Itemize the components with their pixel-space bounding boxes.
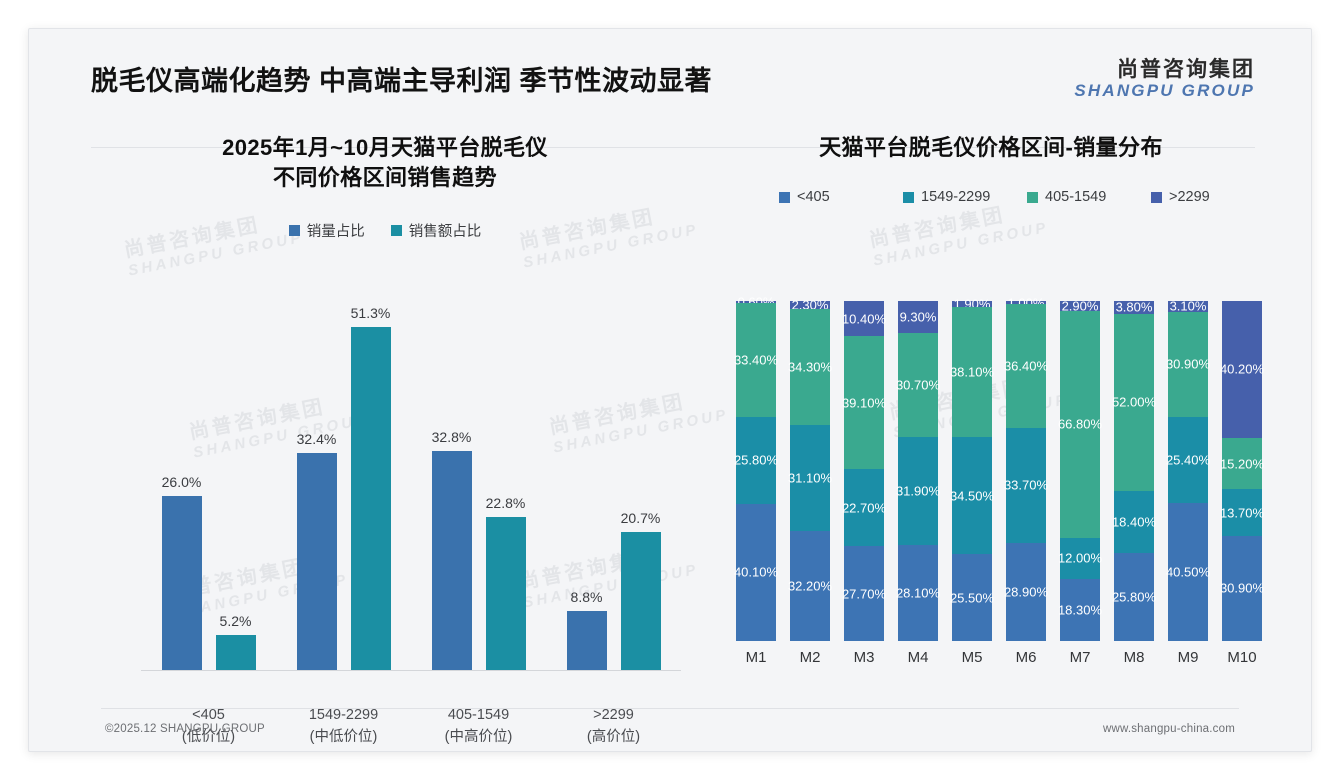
stack-segment[interactable]: 2.90% bbox=[1060, 301, 1100, 311]
x-axis-tick-labels: M1M2M3M4M5M6M7M8M9M10 bbox=[729, 649, 1269, 666]
legend-label: >2299 bbox=[1169, 189, 1210, 205]
stack-segment[interactable]: 25.40% bbox=[1168, 417, 1208, 503]
bar-column[interactable]: 32.8% bbox=[432, 451, 472, 670]
legend-label: 销量占比 bbox=[307, 220, 365, 241]
stack-segment-label: 10.40% bbox=[842, 311, 886, 326]
bar[interactable] bbox=[486, 517, 526, 670]
stack-segment[interactable]: 25.80% bbox=[1114, 553, 1154, 641]
bar-group: 26.0%5.2% bbox=[141, 303, 276, 670]
bar-value-label: 22.8% bbox=[486, 495, 526, 511]
logo-english-text: SHANGPU GROUP bbox=[1074, 82, 1255, 100]
stack-segment[interactable]: 25.80% bbox=[736, 417, 776, 505]
stacked-bar[interactable]: 1.00%36.40%33.70%28.90% bbox=[1006, 301, 1046, 641]
stack-segment[interactable]: 28.90% bbox=[1006, 543, 1046, 641]
footer-website: www.shangpu-china.com bbox=[1103, 723, 1235, 735]
x-tick-sub: (高价位) bbox=[546, 727, 681, 749]
stack-segment[interactable]: 66.80% bbox=[1060, 311, 1100, 538]
bar-group: 32.4%51.3% bbox=[276, 303, 411, 670]
bar-value-label: 5.2% bbox=[220, 613, 252, 629]
legend-label: 1549-2299 bbox=[921, 189, 990, 205]
legend-item[interactable]: <405 bbox=[779, 189, 903, 205]
legend-item[interactable]: >2299 bbox=[1151, 189, 1275, 205]
stack-segment-label: 9.30% bbox=[900, 309, 937, 324]
stack-segment-label: 12.00% bbox=[1058, 551, 1102, 566]
x-tick-label: M1 bbox=[729, 649, 783, 666]
stack-segment[interactable]: 12.00% bbox=[1060, 538, 1100, 579]
footer-copyright: ©2025.12 SHANGPU GROUP bbox=[105, 723, 265, 735]
stack-segment[interactable]: 3.10% bbox=[1168, 301, 1208, 312]
stack-segment[interactable]: 34.30% bbox=[790, 309, 830, 426]
stack-segment-label: 34.50% bbox=[950, 488, 994, 503]
logo-chinese-text: 尚普咨询集团 bbox=[1074, 59, 1255, 82]
stack-segment[interactable]: 32.20% bbox=[790, 531, 830, 640]
stack-segment-label: 28.10% bbox=[896, 586, 940, 601]
bar[interactable] bbox=[621, 532, 661, 671]
stacked-bar-column[interactable]: 2.30%34.30%31.10%32.20% bbox=[783, 301, 837, 641]
stack-segment-label: 31.90% bbox=[896, 484, 940, 499]
x-tick-label: 405-1549(中高价位) bbox=[411, 705, 546, 749]
stacked-bar[interactable]: 0.60%33.40%25.80%40.10% bbox=[736, 301, 776, 641]
bar-column[interactable]: 51.3% bbox=[351, 327, 391, 670]
stack-segment[interactable]: 3.80% bbox=[1114, 301, 1154, 314]
stack-segment[interactable]: 30.70% bbox=[898, 333, 938, 437]
stacked-bar-column[interactable]: 9.30%30.70%31.90%28.10% bbox=[891, 301, 945, 641]
slide-canvas: 脱毛仪高端化趋势 中高端主导利润 季节性波动显著 尚普咨询集团 SHANGPU … bbox=[28, 28, 1312, 752]
stack-segment-label: 39.10% bbox=[842, 395, 886, 410]
stack-segment-label: 13.70% bbox=[1220, 505, 1264, 520]
chart-title-line2: 不同价格区间销售趋势 bbox=[75, 163, 695, 193]
bar-group: 32.8%22.8% bbox=[411, 303, 546, 670]
legend-label: <405 bbox=[797, 189, 830, 205]
stack-segment-label: 25.50% bbox=[950, 590, 994, 605]
page-title: 脱毛仪高端化趋势 中高端主导利润 季节性波动显著 bbox=[91, 59, 712, 98]
stack-segment-label: 22.70% bbox=[842, 500, 886, 515]
bar-value-label: 51.3% bbox=[351, 305, 391, 321]
chart-title-sales-trend: 2025年1月~10月天猫平台脱毛仪 不同价格区间销售趋势 bbox=[75, 133, 695, 194]
stacked-bar[interactable]: 3.10%30.90%25.40%40.50% bbox=[1168, 301, 1208, 641]
stack-segment[interactable]: 31.90% bbox=[898, 437, 938, 545]
stack-segment-label: 33.40% bbox=[734, 352, 778, 367]
legend-item[interactable]: 销量占比 bbox=[289, 220, 365, 241]
stack-segment-label: 15.20% bbox=[1220, 456, 1264, 471]
stack-segment[interactable]: 39.10% bbox=[844, 336, 884, 469]
stacked-bar-column[interactable]: 1.90%38.10%34.50%25.50% bbox=[945, 301, 999, 641]
stack-segment[interactable]: 36.40% bbox=[1006, 304, 1046, 428]
x-tick-main: <405 bbox=[192, 707, 225, 723]
stack-segment-label: 25.80% bbox=[734, 453, 778, 468]
legend-swatch-icon bbox=[1027, 192, 1038, 203]
stack-segment[interactable]: 33.70% bbox=[1006, 428, 1046, 543]
stack-segment-label: 36.40% bbox=[1004, 359, 1048, 374]
bar[interactable] bbox=[216, 635, 256, 670]
stack-segment-label: 25.40% bbox=[1166, 452, 1210, 467]
footer-divider bbox=[101, 708, 1239, 709]
stack-segment[interactable]: 18.40% bbox=[1114, 491, 1154, 554]
stack-segment-label: 25.80% bbox=[1112, 590, 1156, 605]
stack-segment-label: 27.70% bbox=[842, 586, 886, 601]
plot-area-volume-distribution: 0.60%33.40%25.80%40.10%2.30%34.30%31.10%… bbox=[729, 301, 1269, 641]
stack-segment[interactable]: 40.20% bbox=[1222, 301, 1262, 438]
chart-panel-volume-distribution: 天猫平台脱毛仪价格区间-销量分布 <4051549-2299405-1549>2… bbox=[701, 133, 1281, 713]
stack-segment-label: 40.10% bbox=[734, 565, 778, 580]
stack-segment-label: 30.90% bbox=[1220, 581, 1264, 596]
legend-swatch-icon bbox=[779, 192, 790, 203]
x-tick-label: M3 bbox=[837, 649, 891, 666]
stack-segment-label: 66.80% bbox=[1058, 417, 1102, 432]
bar-value-label: 26.0% bbox=[162, 474, 202, 490]
stacked-bar[interactable]: 40.20%15.20%13.70%30.90% bbox=[1222, 301, 1262, 641]
brand-logo: 尚普咨询集团 SHANGPU GROUP bbox=[1074, 59, 1255, 100]
legend-label: 405-1549 bbox=[1045, 189, 1106, 205]
stack-segment[interactable]: 9.30% bbox=[898, 301, 938, 333]
x-tick-label: >2299(高价位) bbox=[546, 705, 681, 749]
stack-segment-label: 33.70% bbox=[1004, 478, 1048, 493]
x-tick-main: 405-1549 bbox=[448, 707, 509, 723]
stack-segment[interactable]: 34.50% bbox=[952, 437, 992, 554]
x-tick-label: M4 bbox=[891, 649, 945, 666]
bar[interactable] bbox=[432, 451, 472, 670]
stack-segment[interactable]: 30.90% bbox=[1222, 536, 1262, 641]
stack-segment[interactable]: 13.70% bbox=[1222, 489, 1262, 536]
stack-segment[interactable]: 40.50% bbox=[1168, 503, 1208, 641]
x-tick-label: M7 bbox=[1053, 649, 1107, 666]
bar[interactable] bbox=[567, 611, 607, 670]
stack-segment[interactable]: 38.10% bbox=[952, 307, 992, 437]
stack-segment[interactable]: 30.90% bbox=[1168, 312, 1208, 417]
bar-column[interactable]: 22.8% bbox=[486, 517, 526, 670]
stack-segment-label: 30.90% bbox=[1166, 357, 1210, 372]
stacked-bar-column[interactable]: 3.10%30.90%25.40%40.50% bbox=[1161, 301, 1215, 641]
stack-segment-label: 52.00% bbox=[1112, 395, 1156, 410]
stacked-bar[interactable]: 3.80%52.00%18.40%25.80% bbox=[1114, 301, 1154, 641]
stack-segment[interactable]: 25.50% bbox=[952, 554, 992, 641]
bar[interactable] bbox=[351, 327, 391, 670]
bar-value-label: 20.7% bbox=[621, 510, 661, 526]
x-tick-sub: (中高价位) bbox=[411, 727, 546, 749]
x-tick-label: M9 bbox=[1161, 649, 1215, 666]
stack-segment-label: 32.20% bbox=[788, 578, 832, 593]
legend-swatch-icon bbox=[903, 192, 914, 203]
plot-area-sales-trend: 26.0%5.2%32.4%51.3%32.8%22.8%8.8%20.7% bbox=[141, 303, 681, 671]
x-tick-label: M10 bbox=[1215, 649, 1269, 666]
x-tick-label: M2 bbox=[783, 649, 837, 666]
stacked-bar[interactable]: 2.30%34.30%31.10%32.20% bbox=[790, 301, 830, 641]
x-tick-label: M5 bbox=[945, 649, 999, 666]
stack-segment[interactable]: 40.10% bbox=[736, 504, 776, 640]
stack-segment-label: 28.90% bbox=[1004, 584, 1048, 599]
stack-segment[interactable]: 31.10% bbox=[790, 425, 830, 531]
legend-item[interactable]: 405-1549 bbox=[1027, 189, 1151, 205]
stacked-bar-column[interactable]: 1.00%36.40%33.70%28.90% bbox=[999, 301, 1053, 641]
bar-value-label: 32.8% bbox=[432, 429, 472, 445]
chart-legend-sales-trend: 销量占比销售额占比 bbox=[75, 220, 695, 241]
x-tick-label: 1549-2299(中低价位) bbox=[276, 705, 411, 749]
legend-item[interactable]: 1549-2299 bbox=[903, 189, 1027, 205]
stack-segment[interactable]: 10.40% bbox=[844, 301, 884, 336]
stack-segment-label: 30.70% bbox=[896, 377, 940, 392]
stack-segment-label: 38.10% bbox=[950, 365, 994, 380]
stacked-bar[interactable]: 1.90%38.10%34.50%25.50% bbox=[952, 301, 992, 641]
stacked-bar-column[interactable]: 3.80%52.00%18.40%25.80% bbox=[1107, 301, 1161, 641]
stacked-bar-column[interactable]: 2.90%66.80%12.00%18.30% bbox=[1053, 301, 1107, 641]
stack-segment[interactable]: 52.00% bbox=[1114, 314, 1154, 491]
x-tick-label: M6 bbox=[999, 649, 1053, 666]
x-tick-main: >2299 bbox=[593, 707, 634, 723]
stacked-bar-column[interactable]: 10.40%39.10%22.70%27.70% bbox=[837, 301, 891, 641]
x-tick-sub: (中低价位) bbox=[276, 727, 411, 749]
bar[interactable] bbox=[297, 453, 337, 670]
stacked-bar-column[interactable]: 0.60%33.40%25.80%40.10% bbox=[729, 301, 783, 641]
stack-segment[interactable]: 27.70% bbox=[844, 546, 884, 640]
stack-segment-label: 18.30% bbox=[1058, 602, 1102, 617]
bar-column[interactable]: 32.4% bbox=[297, 453, 337, 670]
stack-segment[interactable]: 22.70% bbox=[844, 469, 884, 546]
stack-segment[interactable]: 18.30% bbox=[1060, 579, 1100, 641]
stack-segment-label: 40.50% bbox=[1166, 564, 1210, 579]
bar-value-label: 8.8% bbox=[571, 589, 603, 605]
stack-segment-label: 18.40% bbox=[1112, 514, 1156, 529]
legend-swatch-icon bbox=[391, 225, 402, 236]
legend-label: 销售额占比 bbox=[409, 220, 482, 241]
stacked-bar[interactable]: 10.40%39.10%22.70%27.70% bbox=[844, 301, 884, 641]
chart-legend-volume-distribution: <4051549-2299405-1549>2299 bbox=[701, 189, 1281, 205]
stack-segment-label: 31.10% bbox=[788, 471, 832, 486]
stack-segment[interactable]: 28.10% bbox=[898, 545, 938, 641]
bar-column[interactable]: 8.8% bbox=[567, 611, 607, 670]
x-tick-label: M8 bbox=[1107, 649, 1161, 666]
stacked-bar[interactable]: 2.90%66.80%12.00%18.30% bbox=[1060, 301, 1100, 641]
chart-title-volume-distribution: 天猫平台脱毛仪价格区间-销量分布 bbox=[701, 133, 1281, 163]
bar-value-label: 32.4% bbox=[297, 431, 337, 447]
stack-segment[interactable]: 2.30% bbox=[790, 301, 830, 309]
stack-segment-label: 40.20% bbox=[1220, 362, 1264, 377]
x-axis-line bbox=[141, 670, 681, 671]
legend-item[interactable]: 销售额占比 bbox=[391, 220, 482, 241]
x-tick-main: 1549-2299 bbox=[309, 707, 378, 723]
bar-column[interactable]: 20.7% bbox=[621, 532, 661, 671]
bar-column[interactable]: 26.0% bbox=[162, 496, 202, 670]
chart-title-line1: 2025年1月~10月天猫平台脱毛仪 bbox=[75, 133, 695, 163]
legend-swatch-icon bbox=[289, 225, 300, 236]
legend-swatch-icon bbox=[1151, 192, 1162, 203]
stacked-bar-column[interactable]: 40.20%15.20%13.70%30.90% bbox=[1215, 301, 1269, 641]
bar-group: 8.8%20.7% bbox=[546, 303, 681, 670]
slide-header: 脱毛仪高端化趋势 中高端主导利润 季节性波动显著 尚普咨询集团 SHANGPU … bbox=[29, 29, 1311, 123]
stack-segment[interactable]: 15.20% bbox=[1222, 438, 1262, 490]
stack-segment-label: 34.30% bbox=[788, 360, 832, 375]
bar-column[interactable]: 5.2% bbox=[216, 635, 256, 670]
stack-segment-label: 3.80% bbox=[1116, 300, 1153, 315]
bar[interactable] bbox=[162, 496, 202, 670]
stack-segment[interactable]: 33.40% bbox=[736, 303, 776, 417]
chart-panel-sales-trend: 2025年1月~10月天猫平台脱毛仪 不同价格区间销售趋势 销量占比销售额占比 … bbox=[75, 133, 695, 713]
stacked-bar[interactable]: 9.30%30.70%31.90%28.10% bbox=[898, 301, 938, 641]
